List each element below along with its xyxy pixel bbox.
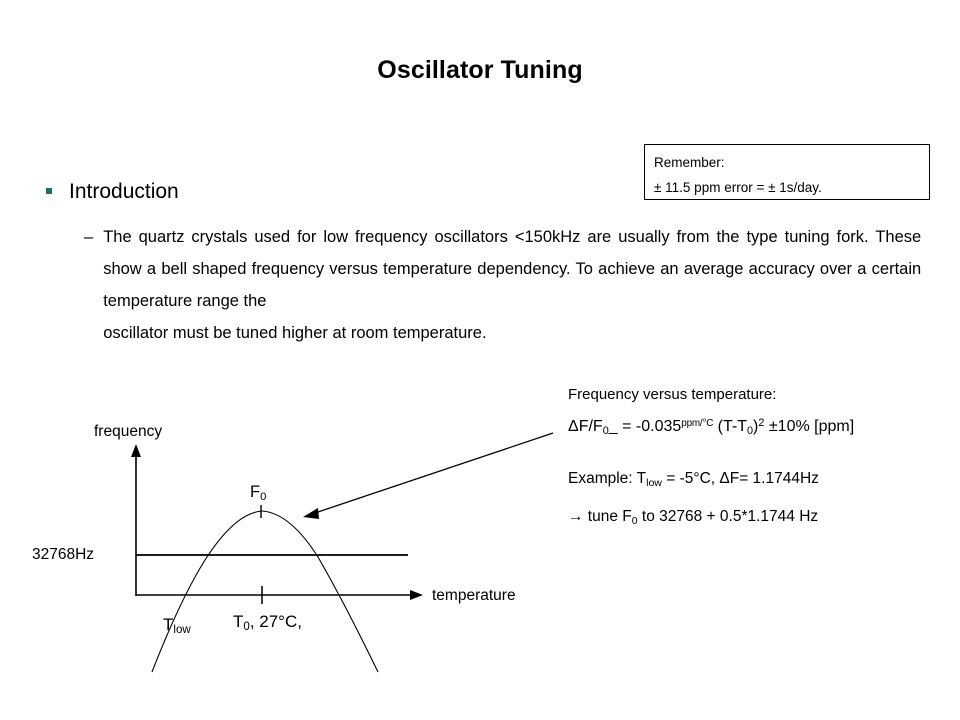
remember-heading: Remember:	[654, 150, 929, 175]
formula-example: Example: Tlow = -5°C, ΔF= 1.1744Hz	[568, 466, 960, 496]
dash-marker-icon: –	[84, 221, 93, 253]
tlow-label-main: T	[163, 615, 173, 634]
sub-bullet-body: The quartz crystals used for low frequen…	[103, 228, 921, 310]
t0-label: T0, 27°C,	[233, 612, 302, 633]
formula-block: Frequency versus temperature: ΔF/F0_ = -…	[568, 383, 960, 534]
y-axis-label: frequency	[94, 423, 162, 441]
equation-tolerance: ±10% [ppm]	[764, 418, 854, 435]
bullet-introduction: Introduction	[46, 180, 179, 204]
callout-arrow-line	[312, 433, 553, 514]
formula-caption: Frequency versus temperature:	[568, 383, 960, 407]
t0-label-tail: , 27°C,	[250, 612, 302, 631]
reference-level-label: 32768Hz	[32, 546, 94, 564]
equation-underscore: _	[609, 418, 618, 435]
example-prefix-sub: low	[646, 477, 662, 489]
formula-result: → tune F0 to 32768 + 0.5*1.1744 Hz	[568, 504, 960, 534]
tlow-label: Tlow	[163, 615, 191, 636]
bell-curve-path	[152, 511, 378, 672]
frequency-temperature-graph	[0, 0, 960, 720]
remember-callout-box: Remember: ± 11.5 ppm error = ± 1s/day.	[644, 144, 930, 200]
t0-label-main: T	[233, 612, 243, 631]
peak-label-sub: 0	[260, 491, 266, 503]
equation-lhs: ΔF/F	[568, 418, 603, 435]
bullet-introduction-label: Introduction	[69, 180, 179, 204]
sub-bullet-paragraph: – The quartz crystals used for low frequ…	[84, 221, 924, 349]
sub-bullet-text: The quartz crystals used for low frequen…	[103, 221, 921, 349]
remember-body: ± 11.5 ppm error = ± 1s/day.	[654, 175, 929, 200]
equation-eq: = -0.035	[618, 418, 682, 435]
equation-bracket-open: (T-T	[713, 418, 747, 435]
x-axis-arrow-icon	[410, 590, 423, 600]
equation-exponent-unit: ppm/°C	[681, 418, 713, 429]
example-prefix: Example: T	[568, 470, 646, 487]
tlow-label-sub: low	[173, 624, 190, 636]
result-tail: to 32768 + 0.5*1.1744 Hz	[638, 508, 819, 525]
peak-label-main: F	[250, 483, 260, 501]
example-mid: = -5°C, ΔF= 1.1744Hz	[662, 470, 819, 487]
x-axis-label: temperature	[432, 587, 516, 605]
callout-arrow-head-icon	[303, 508, 319, 519]
result-arrow: → tune F	[568, 508, 632, 525]
sub-bullet-lastline: oscillator must be tuned higher at room …	[103, 317, 921, 349]
peak-frequency-label: F0	[250, 483, 266, 503]
slide-root: Oscillator Tuning Remember: ± 11.5 ppm e…	[0, 0, 960, 720]
formula-equation: ΔF/F0_ = -0.035ppm/°C (T-T0)2 ±10% [ppm]	[568, 410, 960, 444]
page-title: Oscillator Tuning	[0, 56, 960, 85]
bullet-dot-icon	[46, 188, 52, 194]
y-axis-arrow-icon	[131, 444, 141, 457]
